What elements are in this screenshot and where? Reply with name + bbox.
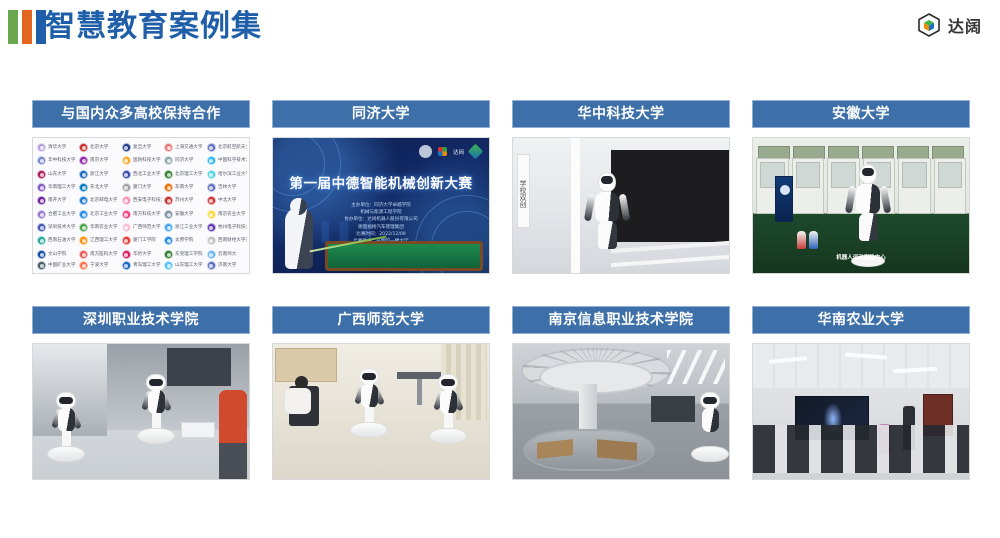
university-logo-item: 浙江工业大学 (162, 221, 204, 234)
university-crest-icon (122, 210, 131, 219)
card-title: 同济大学 (272, 100, 490, 128)
university-logo-item: 南开大学 (35, 194, 77, 207)
university-name: 北京大学 (90, 144, 108, 151)
university-name: 西北工业大学 (133, 171, 160, 178)
case-card[interactable]: 深圳职业技术学院 (32, 306, 250, 480)
university-logo-item: 复旦大学 (120, 141, 162, 154)
university-name: 西安电子科技大学 (133, 198, 162, 205)
university-logo-item: 西安电子科技大学 (120, 194, 162, 207)
card-media-photo (512, 343, 730, 480)
university-logo-wall: 清华大学北京大学复旦大学上海交通大学北京航空航天大学华中科技大学南京大学国防科技… (33, 138, 249, 273)
header-accent-bars (8, 10, 46, 44)
university-crest-icon (122, 261, 131, 270)
card-media-photo: 学校双创 (512, 137, 730, 274)
humanoid-robot (845, 164, 891, 264)
university-logo-item: 东莞理工学院 (162, 248, 204, 261)
university-name: 宁波大学 (90, 262, 108, 269)
seated-person-body (285, 388, 311, 414)
university-crest-icon (37, 170, 46, 179)
card-media-poster: 达闼 第一届中德智能机械创新大赛 主办单位：同济大学卓越学院机械与能源工程学院协… (272, 137, 490, 274)
university-name: 上海交通大学 (175, 144, 202, 151)
university-name: 文山学院 (48, 251, 66, 258)
service-robot (41, 392, 91, 474)
university-crest-icon (207, 170, 216, 179)
university-crest-icon (122, 223, 131, 232)
page-header: 智慧教育案例集 达阔 (0, 0, 1000, 60)
service-robots-photo (33, 344, 249, 479)
university-name: 广西师范大学 (133, 224, 160, 231)
university-logo-item: 山东理工大学 (162, 261, 204, 270)
university-name: 云南师大 (218, 251, 236, 258)
university-logo-item: 苏州大学 (162, 194, 204, 207)
university-crest-icon (37, 143, 46, 152)
page-title: 智慧教育案例集 (45, 6, 262, 48)
card-title: 华南农业大学 (752, 306, 970, 334)
card-title: 华中科技大学 (512, 100, 730, 128)
university-crest-icon (37, 250, 46, 259)
university-logo-item: 东南大学 (162, 181, 204, 194)
service-robot (129, 374, 183, 474)
university-name: 华中科技大学 (48, 158, 75, 165)
case-card[interactable]: 南京信息职业技术学院 (512, 306, 730, 480)
university-logo-item: 南京农业大学 (205, 208, 247, 221)
university-crest-icon (79, 223, 88, 232)
university-crest-icon (164, 236, 173, 245)
accent-bar-orange (22, 10, 32, 44)
university-name: 东北大学 (90, 184, 108, 191)
university-crest-icon (37, 183, 46, 192)
university-logo-item: 南京大学 (77, 154, 119, 167)
case-card[interactable]: 安徽大学 机器人运动实验中心 (752, 100, 970, 274)
university-logo-item: 西北工业大学 (120, 168, 162, 181)
university-crest-icon (122, 183, 131, 192)
university-name: 北京航空航天大学 (218, 144, 247, 151)
university-crest-icon (79, 183, 88, 192)
university-crest-icon (79, 143, 88, 152)
university-name: 华南农业大学 (90, 224, 117, 231)
university-logo-item: 上海交通大学 (162, 141, 204, 154)
university-name: 山东理工大学 (175, 262, 202, 269)
university-name: 南方科技大学 (133, 211, 160, 218)
university-crest-icon (164, 170, 173, 179)
small-robot-toy (797, 231, 806, 249)
case-card[interactable]: 同济大学 达闼 第一届中德智能机械创新大赛 主办单位：同济大学卓越学院机 (272, 100, 490, 274)
service-robot (341, 368, 397, 476)
competition-poster: 达闼 第一届中德智能机械创新大赛 主办单位：同济大学卓越学院机械与能源工程学院协… (273, 138, 489, 273)
person-in-red-shirt (219, 390, 247, 479)
university-name: 华侨大学 (133, 251, 151, 258)
university-logo-item: 青岛理工大学 (120, 261, 162, 270)
case-card[interactable]: 与国内众多高校保持合作 清华大学北京大学复旦大学上海交通大学北京航空航天大学华中… (32, 100, 250, 274)
university-crest-icon (122, 143, 131, 152)
university-name: 南开大学 (48, 198, 66, 205)
university-name: 厦门工学院 (133, 238, 156, 245)
university-logo-item: 深圳技术大学 (35, 221, 77, 234)
university-name: 太原学院 (175, 238, 193, 245)
slide-page: 智慧教育案例集 达阔 与国内众多高校保持合作 清华大学北京大学复旦大学上海交通大… (0, 0, 1000, 538)
university-logo-item: 济南大学 (205, 261, 247, 270)
card-title: 广西师范大学 (272, 306, 490, 334)
university-crest-icon (122, 156, 131, 165)
university-name: 青岛理工大学 (133, 262, 160, 269)
university-logo-item: 厦门工学院 (120, 234, 162, 247)
university-name: 南京农业大学 (218, 211, 245, 218)
university-logo-item: 宁波大学 (77, 261, 119, 270)
card-media-photo: 机器人运动实验中心 (752, 137, 970, 274)
university-name: 华南理工大学 (48, 184, 75, 191)
university-crest-icon (122, 250, 131, 259)
university-name: 东莞理工学院 (175, 251, 202, 258)
photo-caption: 机器人运动实验中心 (753, 253, 969, 261)
standing-banner (775, 176, 793, 222)
atrium-lobby-robot-photo (513, 344, 729, 479)
university-crest-icon (37, 196, 46, 205)
university-name: 复旦大学 (133, 144, 151, 151)
university-name: 中国科学技术大学 (218, 158, 247, 165)
university-logo-item: 北京工业大学 (77, 208, 119, 221)
case-card[interactable]: 华南农业大学 (752, 306, 970, 480)
university-name: 西南石油大学 (48, 238, 75, 245)
university-logo-item: 江西理工大学 (77, 234, 119, 247)
university-logo-item: 西南石油大学 (35, 234, 77, 247)
brand-logo: 达阔 (916, 12, 982, 38)
university-logo-item: 华侨大学 (120, 248, 162, 261)
university-name: 北京邮电大学 (90, 198, 117, 205)
poster-sponsor-logos: 达闼 (419, 145, 481, 158)
university-logo-item: 山东大学 (35, 168, 77, 181)
university-crest-icon (164, 196, 173, 205)
card-title: 南京信息职业技术学院 (512, 306, 730, 334)
card-title: 与国内众多高校保持合作 (32, 100, 250, 128)
university-crest-icon (79, 236, 88, 245)
computer-desk-row (753, 425, 969, 473)
doorway (651, 396, 695, 422)
university-name: 吉林大学 (218, 184, 236, 191)
university-seal-icon (419, 145, 432, 158)
university-name: 东南大学 (175, 184, 193, 191)
university-logo-item: 中国矿业大学 (35, 261, 77, 270)
university-name: 北京理工大学 (175, 171, 202, 178)
university-logo-item: 合肥工业大学 (35, 208, 77, 221)
university-crest-icon (207, 210, 216, 219)
university-crest-icon (207, 261, 216, 270)
university-crest-icon (207, 236, 216, 245)
university-crest-icon (164, 261, 173, 270)
university-logo-item: 华南农业大学 (77, 221, 119, 234)
poster-main-title: 第一届中德智能机械创新大赛 (273, 172, 489, 192)
university-logo-item: 厦门大学 (120, 181, 162, 194)
computer-lab-photo (753, 344, 969, 479)
university-crest-icon (122, 196, 131, 205)
university-logo-item: 华中科技大学 (35, 154, 77, 167)
ceiling-lights (667, 350, 725, 384)
brand-cube-icon (438, 147, 447, 156)
university-logo-item: 中北大学 (205, 194, 247, 207)
card-title: 安徽大学 (752, 100, 970, 128)
university-crest-icon (207, 196, 216, 205)
robot-figure (285, 207, 313, 269)
university-logo-item: 太原学院 (162, 234, 204, 247)
university-logo-item: 华南理工大学 (35, 181, 77, 194)
humanoid-robot (585, 172, 629, 270)
university-logo-item: 吉林大学 (205, 181, 247, 194)
university-crest-icon (207, 183, 216, 192)
university-logo-item: 北京大学 (77, 141, 119, 154)
equipment-box (181, 422, 215, 438)
university-logo-item: 东北大学 (77, 181, 119, 194)
university-name: 合肥工业大学 (48, 211, 75, 218)
case-card-grid: 与国内众多高校保持合作 清华大学北京大学复旦大学上海交通大学北京航空航天大学华中… (32, 100, 968, 480)
university-crest-icon (122, 236, 131, 245)
university-crest-icon (164, 210, 173, 219)
university-name: 国防科技大学 (133, 158, 160, 165)
card-media-photo (32, 343, 250, 480)
university-logo-item: 广西师范大学 (120, 221, 162, 234)
poster-brand-text: 达闼 (453, 148, 464, 156)
university-crest-icon (37, 210, 46, 219)
university-crest-icon (164, 183, 173, 192)
university-crest-icon (207, 223, 216, 232)
university-name: 南方医科大学 (90, 251, 117, 258)
university-name: 北京工业大学 (90, 211, 117, 218)
university-name: 山东大学 (48, 171, 66, 178)
case-card[interactable]: 广西师范大学 (272, 306, 490, 480)
small-robot-toy (809, 231, 818, 249)
robot-in-corridor-photo: 学校双创 (513, 138, 729, 273)
university-crest-icon (164, 250, 173, 259)
university-crest-icon (79, 156, 88, 165)
university-crest-icon (122, 170, 131, 179)
university-logo-item: 安徽大学 (162, 208, 204, 221)
university-name: 哈尔滨工业大学 (218, 171, 247, 178)
university-name: 清华大学 (48, 144, 66, 151)
university-logo-item: 南方医科大学 (77, 248, 119, 261)
university-crest-icon (37, 261, 46, 270)
card-media-logo-wall: 清华大学北京大学复旦大学上海交通大学北京航空航天大学华中科技大学南京大学国防科技… (32, 137, 250, 274)
card-media-photo (752, 343, 970, 480)
university-name: 浙江大学 (90, 171, 108, 178)
university-name: 浙江工业大学 (175, 224, 202, 231)
university-crest-icon (79, 210, 88, 219)
university-crest-icon (164, 143, 173, 152)
university-name: 中国矿业大学 (48, 262, 75, 269)
pillar (571, 138, 580, 273)
university-logo-item: 国防科技大学 (120, 154, 162, 167)
university-logo-item: 中国科学技术大学 (205, 154, 247, 167)
case-card[interactable]: 华中科技大学 学校双创 (512, 100, 730, 274)
university-crest-icon (79, 261, 88, 270)
university-crest-icon (37, 156, 46, 165)
card-title: 深圳职业技术学院 (32, 306, 250, 334)
university-crest-icon (207, 250, 216, 259)
university-logo-item: 浙江大学 (77, 168, 119, 181)
university-logo-item: 云南师大 (205, 248, 247, 261)
card-media-photo (272, 343, 490, 480)
university-logo-item: 南方科技大学 (120, 208, 162, 221)
university-logo-item: 北京邮电大学 (77, 194, 119, 207)
university-crest-icon (79, 196, 88, 205)
university-name: 杭州电子科技大学 (218, 224, 247, 231)
university-crest-icon (79, 250, 88, 259)
hexagon-cube-logo-icon (916, 12, 942, 38)
university-crest-icon (207, 143, 216, 152)
university-logo-item: 文山学院 (35, 248, 77, 261)
university-name: 同济大学 (175, 158, 193, 165)
university-logo-item: 北京理工大学 (162, 168, 204, 181)
wooden-desk (597, 439, 637, 460)
university-logo-item: 清华大学 (35, 141, 77, 154)
robot-in-lab-photo: 机器人运动实验中心 (753, 138, 969, 273)
university-name: 济南大学 (218, 262, 236, 269)
university-logo-item: 哈尔滨工业大学 (205, 168, 247, 181)
university-logo-item: 北京航空航天大学 (205, 141, 247, 154)
university-name: 中北大学 (218, 198, 236, 205)
university-crest-icon (164, 156, 173, 165)
university-crest-icon (207, 156, 216, 165)
university-logo-item: 杭州电子科技大学 (205, 221, 247, 234)
university-name: 厦门大学 (133, 184, 151, 191)
university-name: 江西理工大学 (90, 238, 117, 245)
service-robot (425, 374, 471, 466)
robots-classroom-photo (273, 344, 489, 479)
university-name: 安徽大学 (175, 211, 193, 218)
university-name: 苏州大学 (175, 198, 193, 205)
university-logo-item: 同济大学 (162, 154, 204, 167)
university-name: 南京大学 (90, 158, 108, 165)
university-crest-icon (37, 236, 46, 245)
university-crest-icon (37, 223, 46, 232)
university-name: 深圳技术大学 (48, 224, 75, 231)
university-name: 西南财经大学天府学院 (218, 238, 247, 245)
university-logo-item: 西南财经大学天府学院 (205, 234, 247, 247)
brand-name: 达阔 (948, 13, 982, 37)
university-crest-icon (79, 170, 88, 179)
service-robot (693, 392, 727, 470)
pool-table (325, 241, 483, 271)
partner-logo-icon (468, 144, 484, 160)
corridor-sign: 学校双创 (517, 154, 530, 228)
accent-bar-green (8, 10, 18, 44)
university-crest-icon (164, 223, 173, 232)
